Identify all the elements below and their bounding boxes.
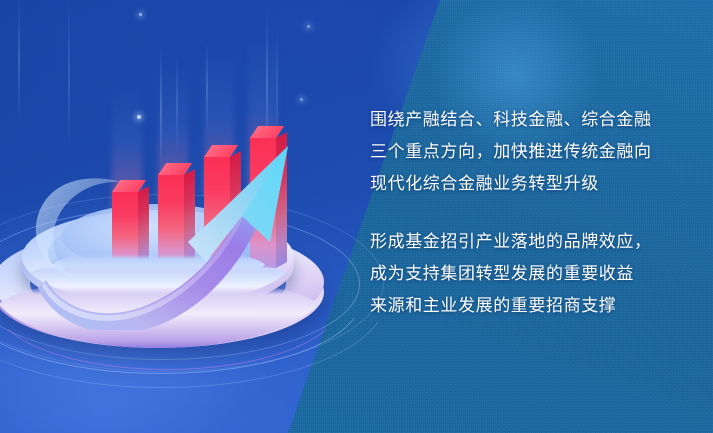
light-streak — [18, 0, 20, 120]
paragraph-2-line-3: 来源和主业发展的重要招商支撑 — [370, 290, 690, 322]
paragraph-1: 围绕产融结合、科技金融、综合金融 三个重点方向，加快推进传统金融向 现代化综合金… — [370, 104, 690, 200]
light-streak — [68, 0, 70, 150]
paragraph-1-line-1: 围绕产融结合、科技金融、综合金融 — [370, 104, 690, 136]
slide-canvas: 围绕产融结合、科技金融、综合金融 三个重点方向，加快推进传统金融向 现代化综合金… — [0, 0, 713, 433]
arrow-tail-ribbon — [36, 178, 122, 282]
paragraph-1-line-3: 现代化综合金融业务转型升级 — [370, 168, 690, 200]
rising-arrow-svg — [30, 130, 310, 330]
sparkle-dot — [139, 13, 142, 16]
sparkle-dot — [300, 98, 303, 101]
paragraph-2-line-2: 成为支持集团转型发展的重要收益 — [370, 258, 690, 290]
sparkle-dot — [307, 25, 310, 28]
copy-block: 围绕产融结合、科技金融、综合金融 三个重点方向，加快推进传统金融向 现代化综合金… — [370, 104, 690, 322]
rising-arrow — [30, 130, 310, 330]
paragraph-1-line-2: 三个重点方向，加快推进传统金融向 — [370, 136, 690, 168]
paragraph-2: 形成基金招引产业落地的品牌效应， 成为支持集团转型发展的重要收益 来源和主业发展… — [370, 226, 690, 322]
paragraph-2-line-1: 形成基金招引产业落地的品牌效应， — [370, 226, 690, 258]
